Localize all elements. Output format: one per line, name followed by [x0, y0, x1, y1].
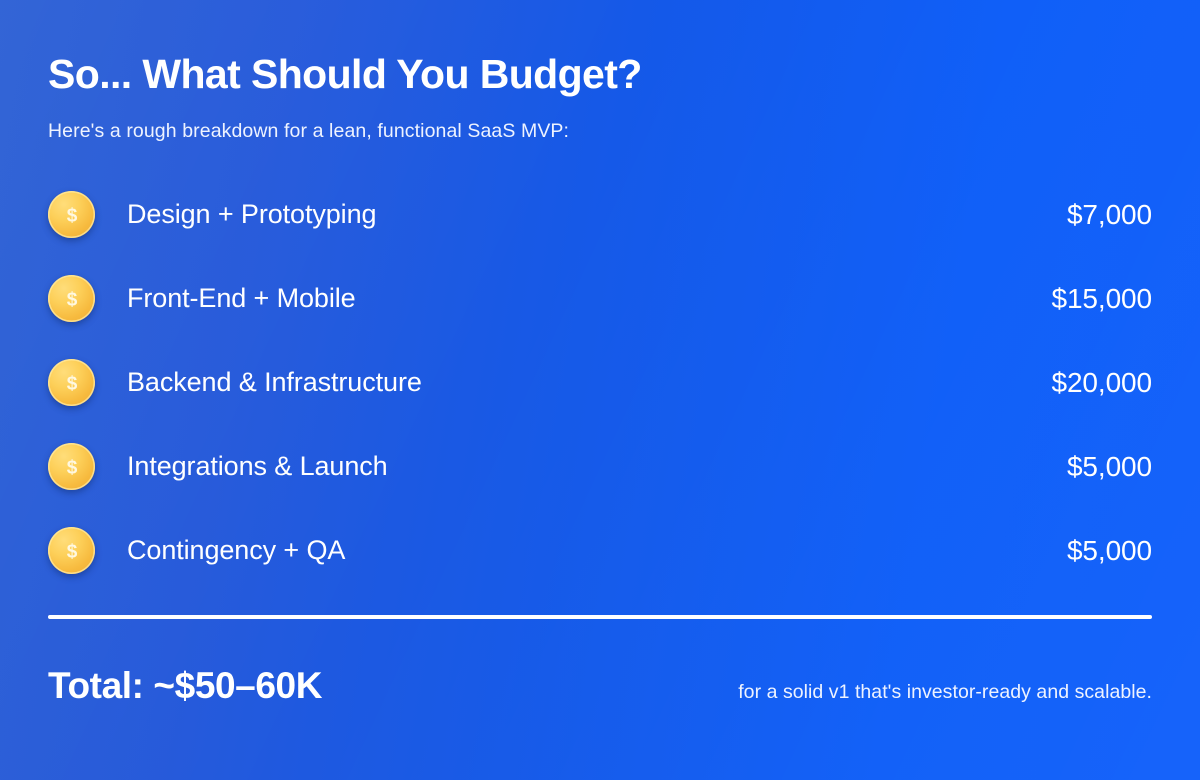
list-item: $ Backend & Infrastructure $20,000: [48, 341, 1152, 425]
dollar-coin-icon: $: [48, 359, 95, 406]
page-subtitle: Here's a rough breakdown for a lean, fun…: [48, 98, 1152, 143]
budget-item-label: Front-End + Mobile: [95, 283, 356, 314]
footer-note: for a solid v1 that's investor-ready and…: [738, 681, 1152, 704]
svg-text:$: $: [66, 289, 77, 310]
footer: Total: ~$50–60K for a solid v1 that's in…: [48, 619, 1152, 707]
budget-item-amount: $20,000: [1051, 367, 1152, 399]
budget-item-label: Contingency + QA: [95, 535, 345, 566]
dollar-coin-icon: $: [48, 527, 95, 574]
budget-slide: So... What Should You Budget? Here's a r…: [0, 0, 1200, 780]
list-item: $ Design + Prototyping $7,000: [48, 173, 1152, 257]
dollar-coin-icon: $: [48, 191, 95, 238]
dollar-coin-icon: $: [48, 443, 95, 490]
budget-list: $ Design + Prototyping $7,000 $ Front-En…: [48, 143, 1152, 593]
budget-item-label: Design + Prototyping: [95, 199, 376, 230]
page-title: So... What Should You Budget?: [48, 0, 1152, 98]
budget-item-label: Backend & Infrastructure: [95, 367, 422, 398]
budget-item-amount: $5,000: [1067, 535, 1152, 567]
budget-item-label: Integrations & Launch: [95, 451, 388, 482]
list-item: $ Front-End + Mobile $15,000: [48, 257, 1152, 341]
list-item: $ Integrations & Launch $5,000: [48, 425, 1152, 509]
svg-text:$: $: [66, 373, 77, 394]
svg-text:$: $: [66, 457, 77, 478]
budget-item-amount: $15,000: [1051, 283, 1152, 315]
budget-item-amount: $7,000: [1067, 199, 1152, 231]
dollar-coin-icon: $: [48, 275, 95, 322]
total-label: Total: ~$50–60K: [48, 665, 322, 707]
budget-item-amount: $5,000: [1067, 451, 1152, 483]
list-item: $ Contingency + QA $5,000: [48, 509, 1152, 593]
svg-text:$: $: [66, 205, 77, 226]
svg-text:$: $: [66, 541, 77, 562]
